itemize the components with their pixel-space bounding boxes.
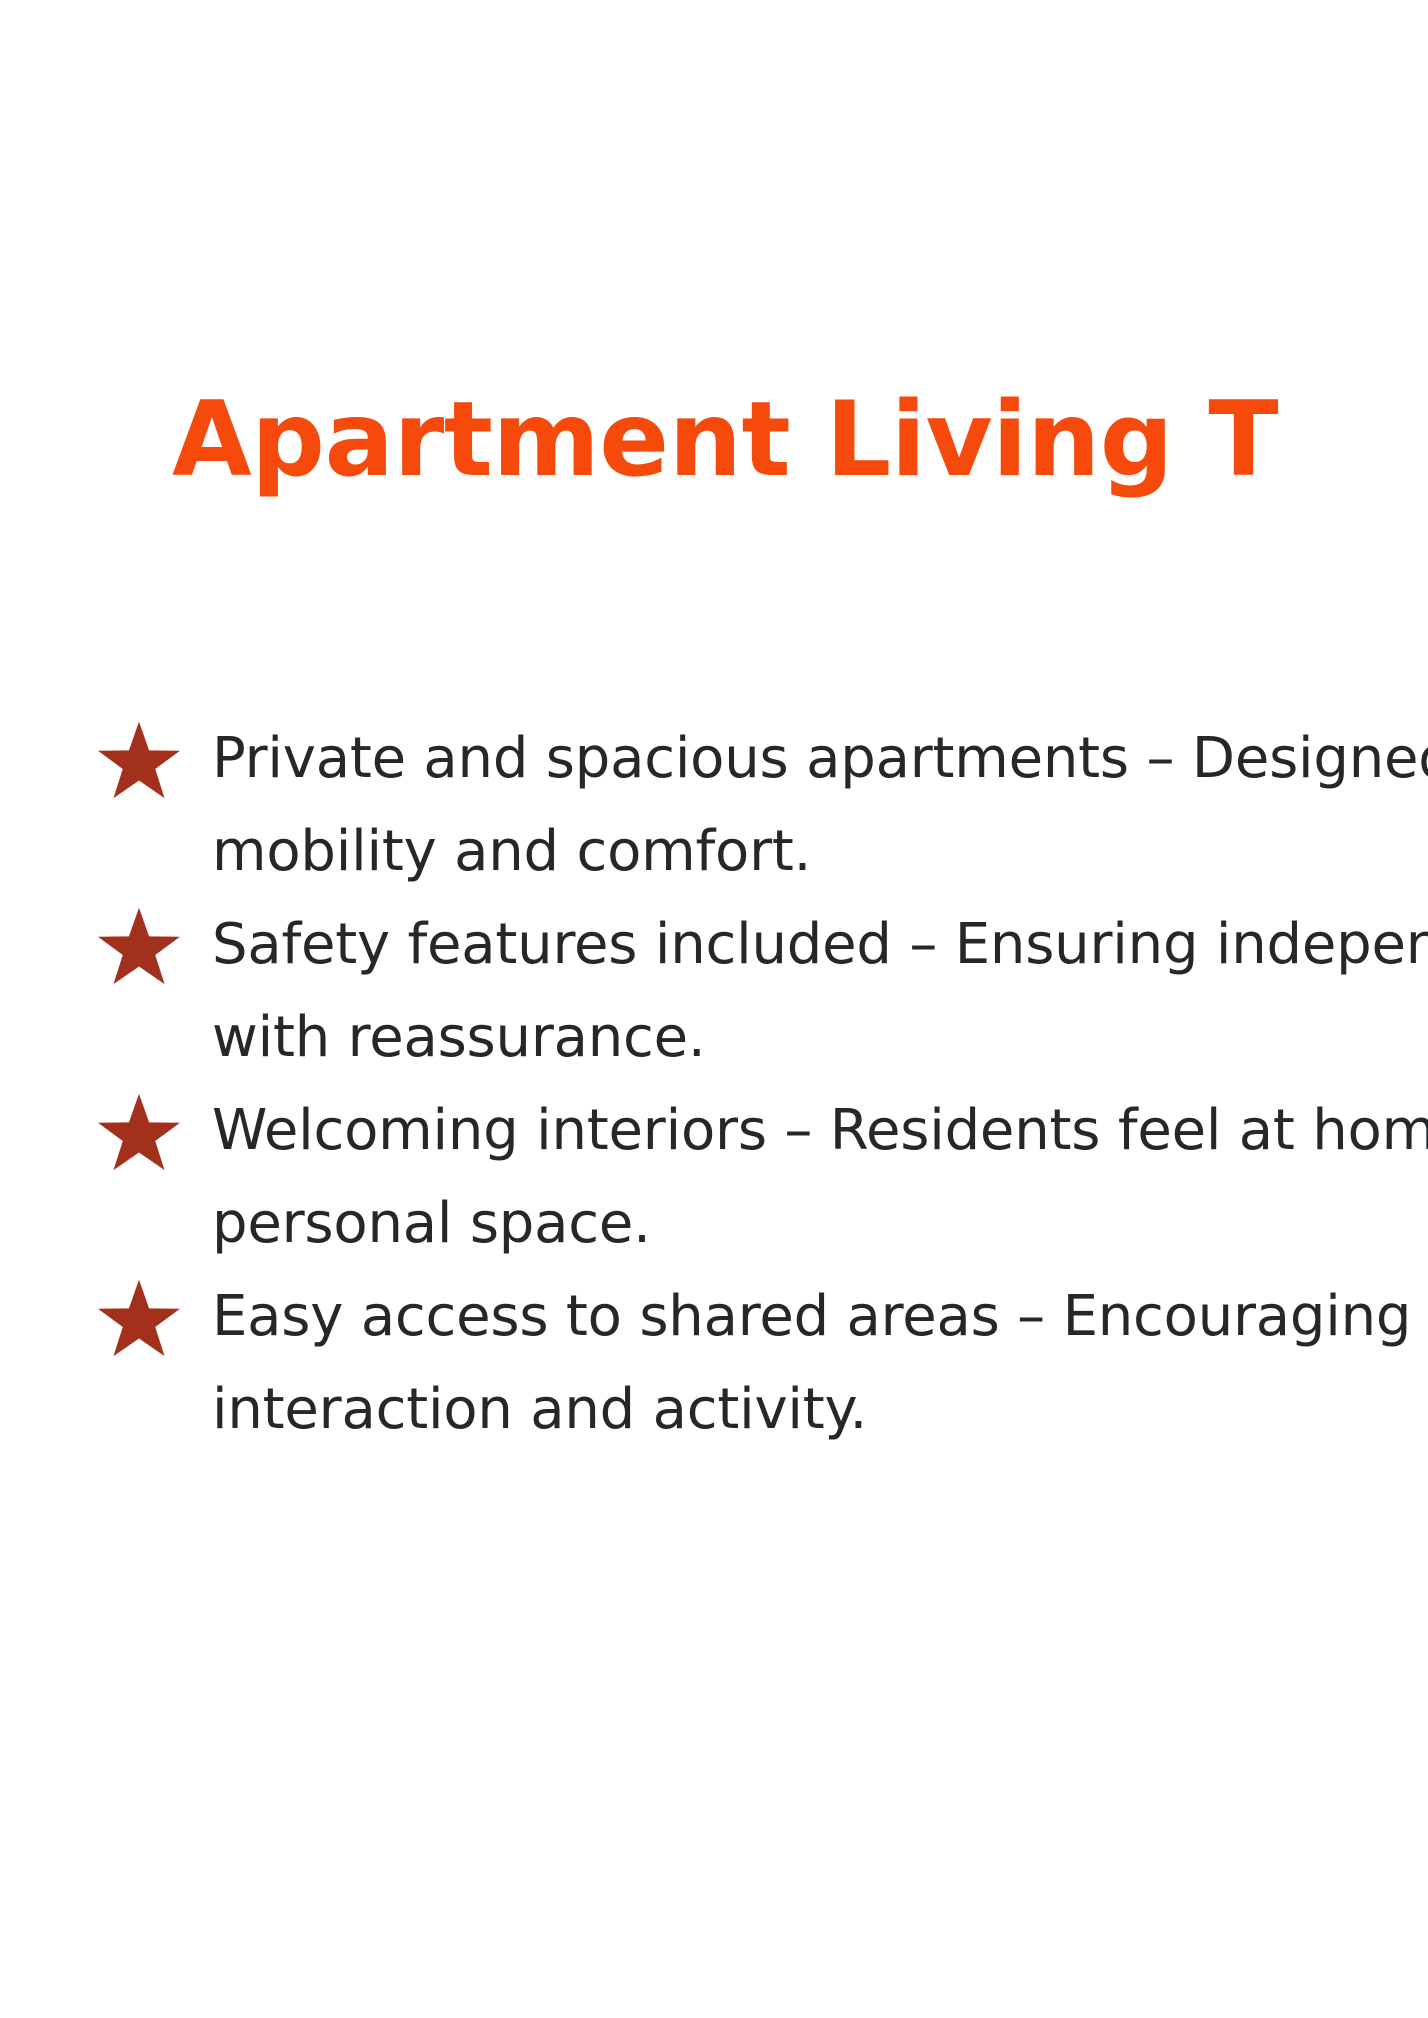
list-item: Private and spacious apartments – Design… xyxy=(96,712,1428,898)
list-item: Welcoming interiors – Residents feel at … xyxy=(96,1084,1428,1270)
list-item-label: Welcoming interiors – Residents feel at … xyxy=(212,1084,1428,1270)
page-title: Apartment Living T xyxy=(172,383,1278,498)
list-item: Easy access to shared areas – Encouragin… xyxy=(96,1270,1428,1456)
star-icon xyxy=(96,906,182,988)
list-item: Safety features included – Ensuring inde… xyxy=(96,898,1428,1084)
list-item-label: Private and spacious apartments – Design… xyxy=(212,712,1428,898)
list-item-label: Safety features included – Ensuring inde… xyxy=(212,898,1428,1084)
star-icon xyxy=(96,1278,182,1360)
slide-canvas: Apartment Living T Private and spacious … xyxy=(0,0,1428,2018)
list-item-label: Easy access to shared areas – Encouragin… xyxy=(212,1270,1428,1456)
star-icon xyxy=(96,1092,182,1174)
star-icon xyxy=(96,720,182,802)
bullet-list: Private and spacious apartments – Design… xyxy=(96,712,1428,1456)
